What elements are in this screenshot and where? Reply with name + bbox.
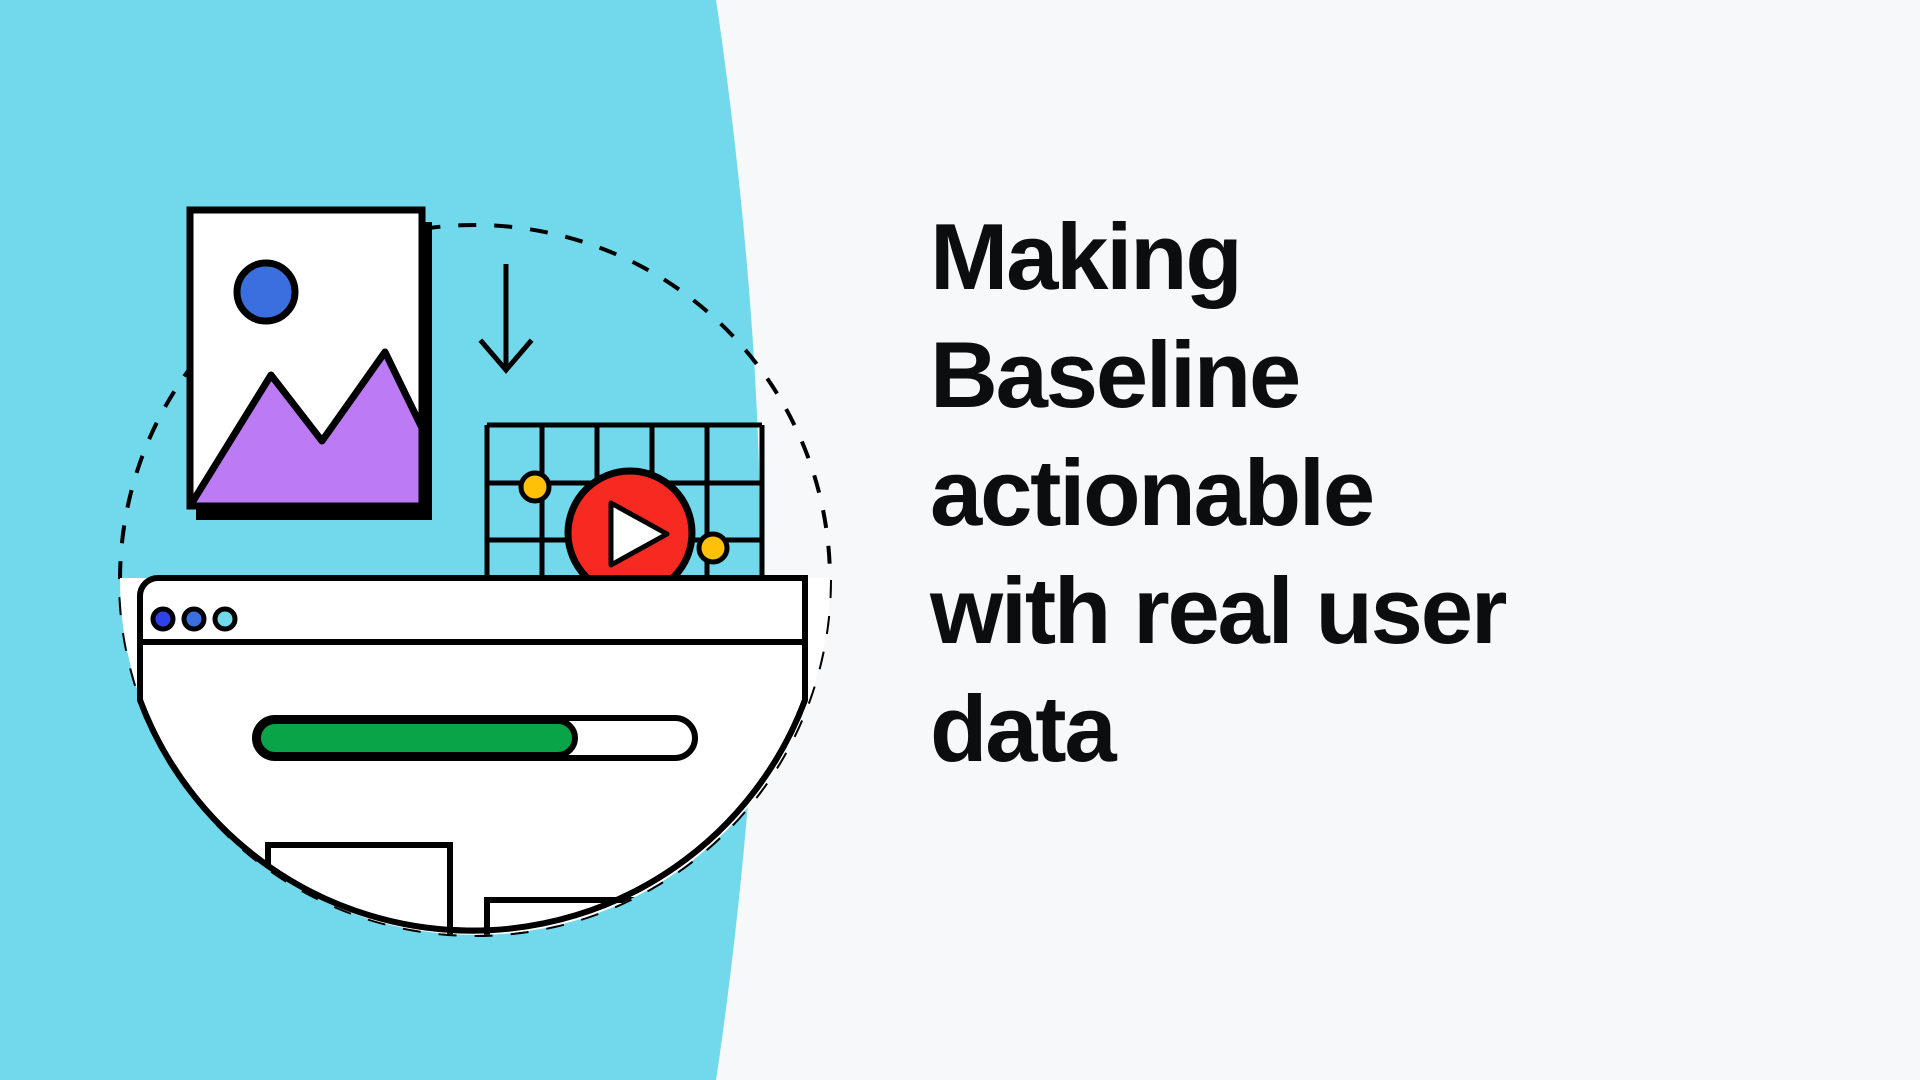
progress-fill [258,721,575,755]
content-block-right [487,900,640,1000]
window-dot-close-icon[interactable] [153,609,173,629]
browser-title-bar [140,596,805,640]
content-block-left [268,845,450,990]
sun-dot-icon [237,263,295,321]
page-title: Making Baseline actionable with real use… [930,198,1790,788]
hero-banner: Making Baseline actionable with real use… [0,0,1920,1080]
illustration-root [0,0,900,1080]
headline-line-2: Baseline [930,316,1790,434]
headline-line-1: Making [930,198,1790,316]
page-load-progress-bar[interactable] [255,718,695,758]
grid-node-icon-2 [699,534,727,562]
grid-node-icon-1 [521,473,549,501]
download-arrow-icon [482,264,530,370]
window-dot-maximize-icon[interactable] [215,609,235,629]
headline-line-3: actionable [930,434,1790,552]
headline-line-5: data [930,670,1790,788]
headline-line-4: with real user [930,552,1790,670]
image-placeholder-card [190,210,460,520]
window-dot-minimize-icon[interactable] [184,609,204,629]
